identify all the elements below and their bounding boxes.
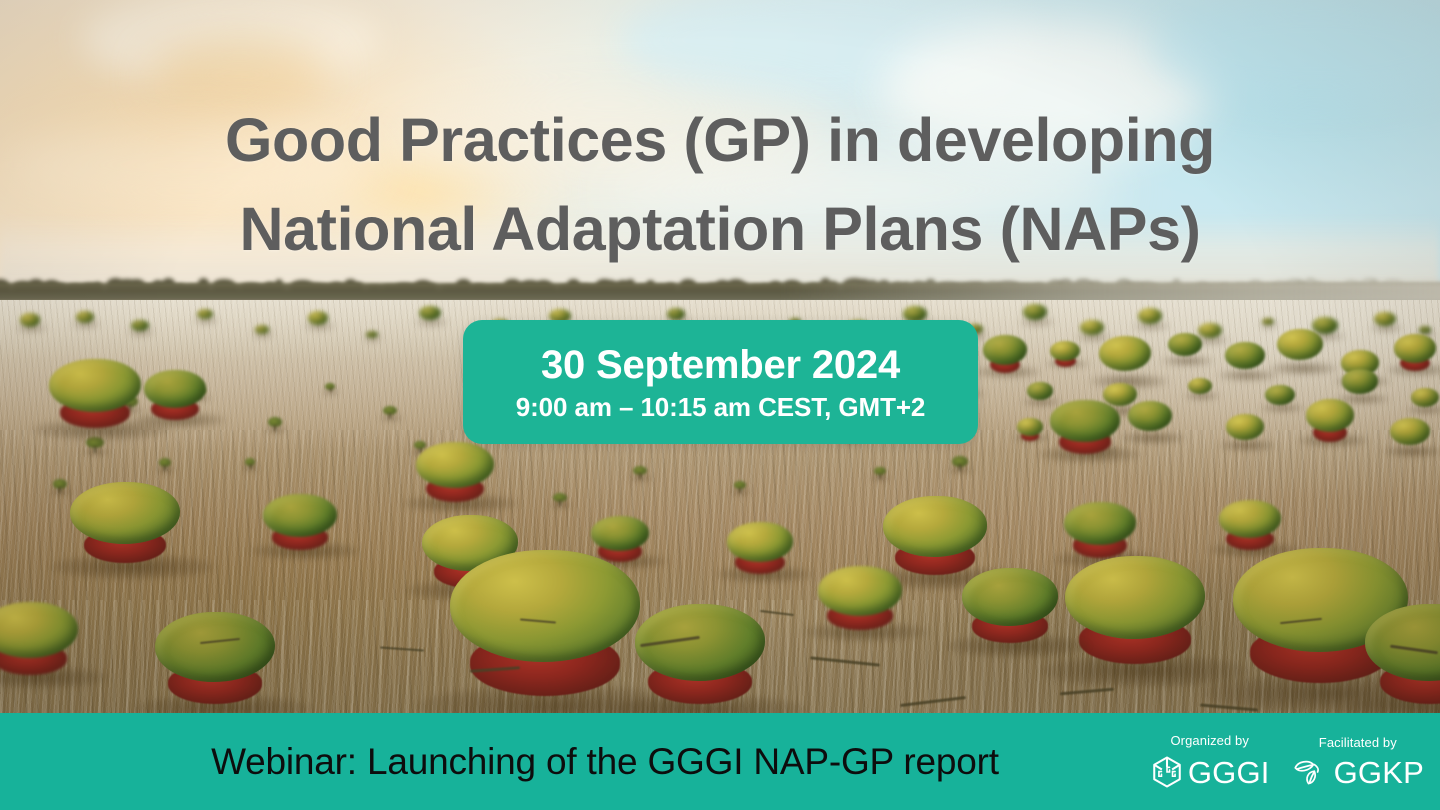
cube-icon [1150,755,1184,789]
event-date: 30 September 2024 [541,345,900,385]
facilitated-by-label: Facilitated by [1319,736,1397,749]
footer-bar: Webinar: Launching of the GGGI NAP-GP re… [0,713,1440,810]
gggi-wordmark: GGGI [1188,757,1270,788]
facilitator-logo-block: Facilitated by GGKP [1292,736,1424,788]
title-line-2: National Adaptation Plans (NAPs) [0,185,1440,274]
title-line-1: Good Practices (GP) in developing [0,96,1440,185]
organizer-logo-block: Organized by GGGI [1150,734,1270,789]
leaf-icon [1292,757,1330,787]
logo-group: Organized by GGGI [1150,713,1424,810]
page-title: Good Practices (GP) in developing Nation… [0,96,1440,274]
event-time: 9:00 am – 10:15 am CEST, GMT+2 [516,394,926,420]
ggkp-wordmark: GGKP [1334,757,1424,788]
gggi-logo: GGGI [1150,755,1270,789]
ggkp-logo: GGKP [1292,757,1424,788]
webinar-poster: Good Practices (GP) in developing Nation… [0,0,1440,810]
date-time-badge: 30 September 2024 9:00 am – 10:15 am CES… [463,320,978,444]
organized-by-label: Organized by [1170,734,1249,747]
